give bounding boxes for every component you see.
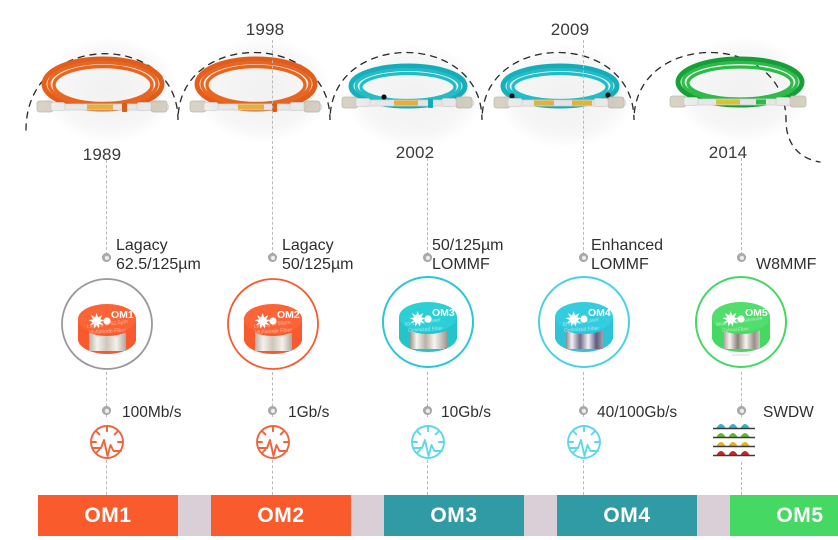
- speed-marker-dot-om3: [423, 406, 432, 415]
- spec-line2: 62.5/125µm: [116, 255, 201, 274]
- spec-label-om4: Enhanced LOMMF: [591, 236, 663, 274]
- connector-line-om1-top: [106, 160, 107, 255]
- spec-marker-dot-om4: [579, 253, 588, 262]
- spec-line1: Enhanced: [591, 236, 663, 255]
- year-label-2014: 2014: [688, 143, 768, 163]
- connector-line-om2-bottom: [272, 460, 273, 495]
- speed-label-om1: 100Mb/s: [122, 404, 181, 422]
- speed-label-om4: 40/100Gb/s: [597, 404, 677, 422]
- year-label-1989: 1989: [62, 145, 142, 165]
- speed-marker-dot-om4: [579, 406, 588, 415]
- om3-patch-cord: [332, 58, 496, 130]
- cord-halo: [674, 38, 810, 142]
- spool-icon-om4: OM4 Enhanced Laser Optimized Fiber: [537, 275, 633, 371]
- bar-gap-4: [697, 495, 730, 536]
- connector-line-om5-bottom: [741, 462, 742, 495]
- spec-marker-dot-om2: [268, 253, 277, 262]
- cord-halo: [194, 38, 330, 142]
- spec-label-om3: 50/125µm LOMMF: [432, 236, 503, 274]
- om1-patch-cord: [27, 52, 191, 124]
- cord-halo: [346, 44, 482, 148]
- cord-halo: [498, 44, 634, 148]
- cord-halo: [41, 38, 177, 142]
- spool-icon-om5: OM5 Wide Band Multimode Optical Fiber: [694, 275, 790, 371]
- spec-line2: 50/125µm: [282, 255, 353, 274]
- spec-line2: LOMMF: [432, 255, 503, 274]
- speed-marker-dot-om1: [102, 406, 111, 415]
- bottom-grade-bar: OM1 OM2 OM3 OM4 OM5: [38, 495, 800, 536]
- spec-line2: W8MMF: [756, 255, 816, 274]
- bar-segment-om3[interactable]: OM3: [384, 495, 524, 536]
- year-label-2009: 2009: [530, 20, 610, 40]
- year-label-1998: 1998: [225, 20, 305, 40]
- bar-gap-3: [524, 495, 557, 536]
- spec-marker-dot-om5: [737, 253, 746, 262]
- spec-line1: 50/125µm: [432, 236, 503, 255]
- spec-marker-dot-om1: [102, 253, 111, 262]
- speed-marker-dot-om2: [268, 406, 277, 415]
- bar-segment-om5[interactable]: OM5: [730, 495, 838, 536]
- gauge-icon-om3: [405, 418, 451, 464]
- spec-label-om2: Lagacy 50/125µm: [282, 236, 353, 274]
- spec-label-om5: W8MMF: [756, 255, 816, 274]
- om2-patch-cord: [180, 52, 344, 124]
- spool-icon-om2: OM2 Lagacy of 50µm Multimode Fiber: [226, 277, 322, 373]
- connector-line-om5-top: [741, 158, 742, 255]
- spec-line1: Lagacy: [116, 236, 201, 255]
- bar-gap-2: [351, 495, 384, 536]
- spec-line2: LOMMF: [591, 255, 663, 274]
- swdm-wavelength-icon-om5: [711, 418, 771, 462]
- spec-label-om1: Lagacy 62.5/125µm: [116, 236, 201, 274]
- bar-segment-om4[interactable]: OM4: [557, 495, 697, 536]
- connector-line-om2-top: [272, 40, 273, 255]
- connector-line-om3-bottom: [427, 460, 428, 495]
- connector-line-om4-bottom: [583, 460, 584, 495]
- gauge-icon-om4: [561, 418, 607, 464]
- bar-segment-om2[interactable]: OM2: [211, 495, 351, 536]
- gauge-icon-om2: [250, 418, 296, 464]
- spool-icon-om3: OM3 50/125µm Laser Optimized Fiber: [381, 275, 477, 371]
- spec-marker-dot-om3: [423, 253, 432, 262]
- om5-patch-cord: [660, 52, 824, 124]
- connector-line-om1-bottom: [106, 460, 107, 495]
- gauge-icon-om1: [84, 418, 130, 464]
- spec-line1: Lagacy: [282, 236, 353, 255]
- spool-icon-om1: OM1 Lagacy of 62.5µm Multimode Fiber: [60, 277, 156, 373]
- bar-segment-om1[interactable]: OM1: [38, 495, 178, 536]
- om4-patch-cord: [484, 58, 648, 130]
- bar-gap-1: [178, 495, 211, 536]
- connector-line-om3-top: [427, 158, 428, 255]
- connector-line-om4-top: [583, 40, 584, 255]
- infographic-canvas: 1989 1998 2002 2009 2014: [0, 0, 838, 540]
- speed-marker-dot-om5: [737, 406, 746, 415]
